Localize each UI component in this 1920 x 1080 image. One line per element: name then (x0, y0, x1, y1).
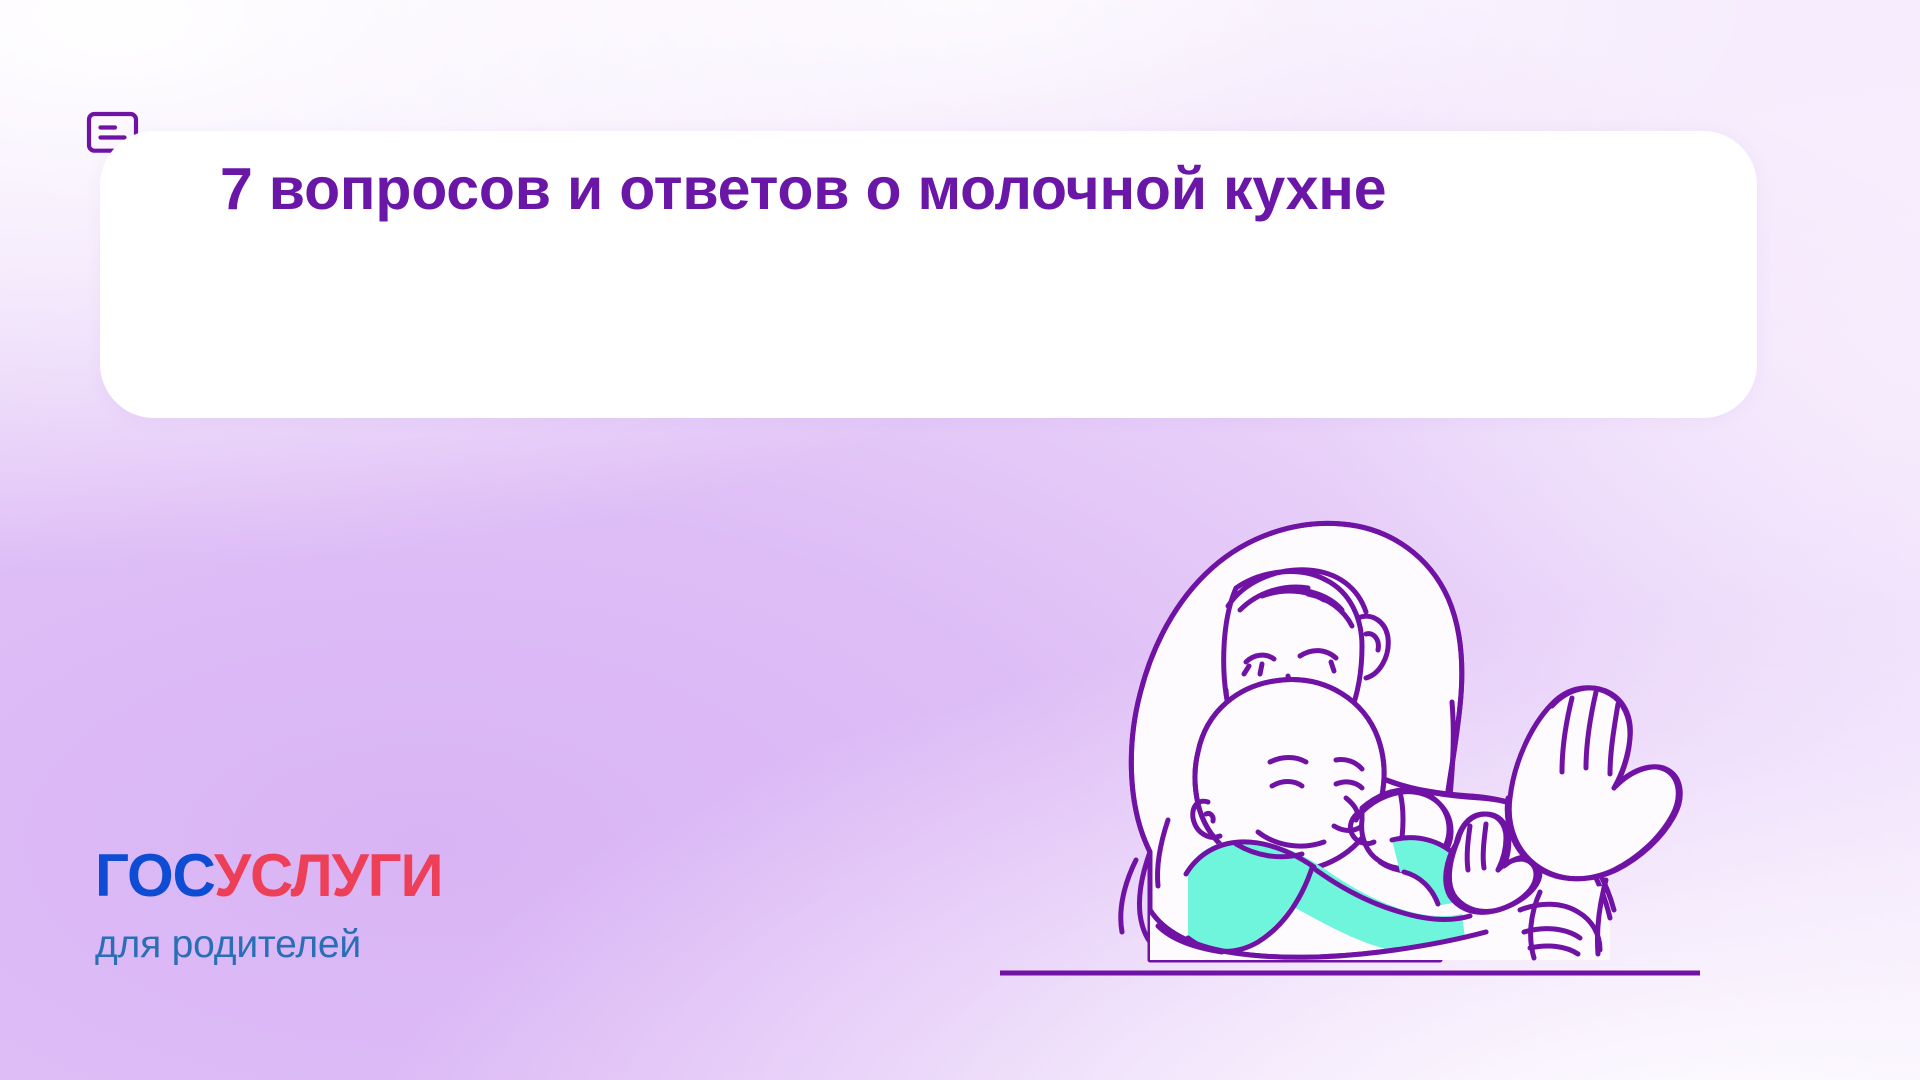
illustration-mother-feeding-baby (1000, 440, 1700, 1010)
gosuslugi-logo: ГОСУСЛУГИ для родителей (95, 846, 515, 967)
headline-card: 7 вопросов и ответов о молочной кухне (100, 131, 1757, 418)
logo-uslugi-part: УСЛУГИ (214, 842, 443, 909)
logo-wordmark: ГОСУСЛУГИ (95, 846, 515, 906)
page-title: 7 вопросов и ответов о молочной кухне (220, 150, 1580, 228)
logo-gos-part: ГОС (95, 842, 214, 909)
logo-subtitle: для родителей (95, 923, 515, 967)
poster-canvas: 7 вопросов и ответов о молочной кухне ГО… (0, 0, 1920, 1080)
